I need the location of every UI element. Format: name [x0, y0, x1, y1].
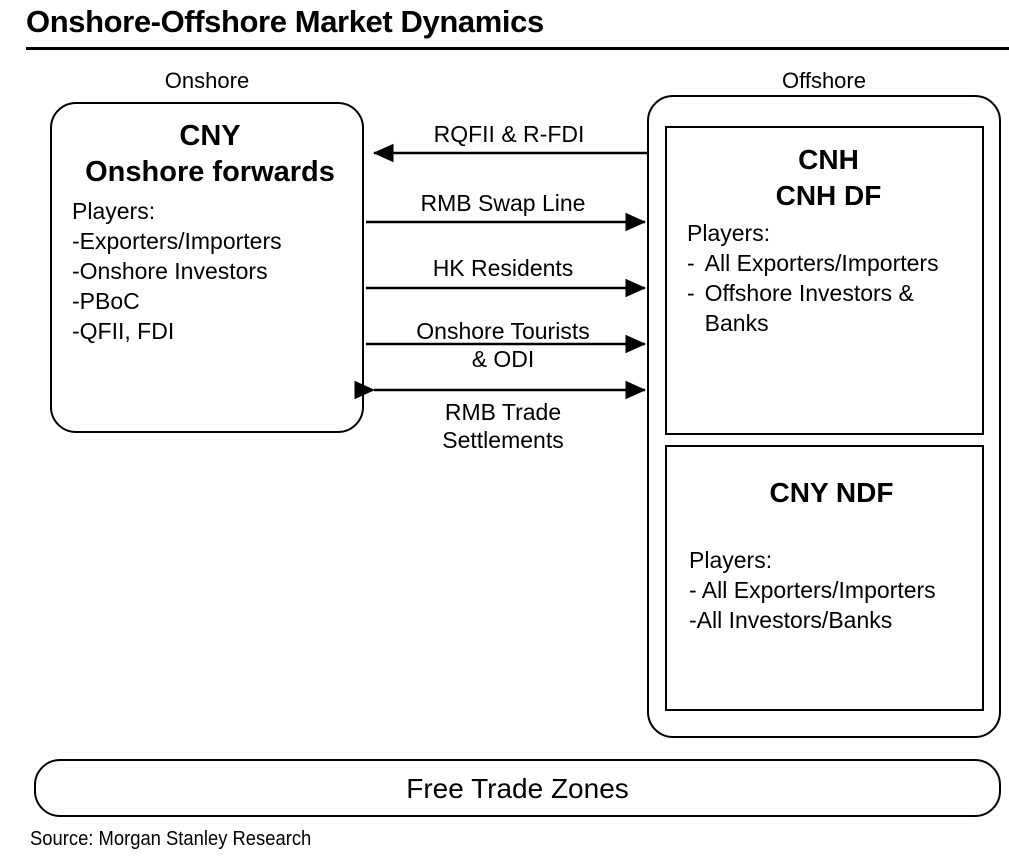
free-trade-zones-box: Free Trade Zones — [34, 759, 1001, 817]
ndf-player-item: -All Investors/Banks — [689, 605, 974, 635]
ndf-box-content: CNY NDF Players: - All Exporters/Importe… — [689, 475, 974, 635]
onshore-players-list: Players: -Exporters/Importers -Onshore I… — [64, 196, 356, 346]
onshore-player-item: -PBoC — [72, 286, 356, 316]
onshore-player-item: -Exporters/Importers — [72, 226, 356, 256]
column-caption-onshore: Onshore — [50, 68, 364, 94]
ndf-players-list: Players: - All Exporters/Importers -All … — [689, 545, 974, 635]
onshore-cny-box: CNY Onshore forwards Players: -Exporters… — [50, 102, 364, 433]
diagram-canvas: Onshore-Offshore Market Dynamics Onshore… — [0, 0, 1009, 858]
bullet-dash: - — [687, 248, 695, 278]
page-title: Onshore-Offshore Market Dynamics — [26, 2, 544, 42]
arrow-label-onshore-tourists: Onshore Tourists — [372, 317, 634, 345]
onshore-player-item: -Onshore Investors — [72, 256, 356, 286]
cnh-player-item: - Offshore Investors & Banks — [687, 278, 976, 338]
cnh-heading: CNH — [681, 142, 976, 178]
onshore-heading: CNY — [64, 118, 356, 154]
cnh-subheading: CNH DF — [681, 178, 976, 214]
free-trade-zones-label: Free Trade Zones — [36, 772, 999, 806]
onshore-player-item: -QFII, FDI — [72, 316, 356, 346]
cnh-box-content: CNH CNH DF Players: - All Exporters/Impo… — [681, 142, 976, 338]
source-note: Source: Morgan Stanley Research — [30, 827, 311, 851]
onshore-box-content: CNY Onshore forwards Players: -Exporters… — [64, 118, 356, 346]
ndf-players-label: Players: — [689, 545, 974, 575]
arrow-label-hk-residents: HK Residents — [372, 254, 634, 282]
cnh-player-text: Offshore Investors & Banks — [705, 278, 976, 338]
cnh-players-list: Players: - All Exporters/Importers - Off… — [681, 218, 976, 338]
ndf-player-item: - All Exporters/Importers — [689, 575, 974, 605]
arrow-label-settlements: Settlements — [372, 426, 634, 454]
column-caption-offshore: Offshore — [647, 68, 1001, 94]
ndf-heading: CNY NDF — [689, 475, 974, 511]
cny-ndf-box: CNY NDF Players: - All Exporters/Importe… — [665, 445, 984, 711]
title-divider — [26, 47, 1009, 50]
cnh-players-label: Players: — [687, 218, 976, 248]
onshore-players-label: Players: — [72, 196, 356, 226]
arrow-label-rqfii-rfdi: RQFII & R-FDI — [378, 120, 640, 148]
bullet-dash: - — [687, 278, 695, 338]
arrow-label-rmb-trade: RMB Trade — [372, 398, 634, 426]
cnh-player-text: All Exporters/Importers — [705, 248, 939, 278]
cnh-box: CNH CNH DF Players: - All Exporters/Impo… — [665, 126, 984, 435]
cnh-player-item: - All Exporters/Importers — [687, 248, 976, 278]
onshore-subheading: Onshore forwards — [64, 154, 356, 190]
arrow-label-odi: & ODI — [372, 345, 634, 373]
arrow-label-rmb-swap-line: RMB Swap Line — [372, 189, 634, 217]
